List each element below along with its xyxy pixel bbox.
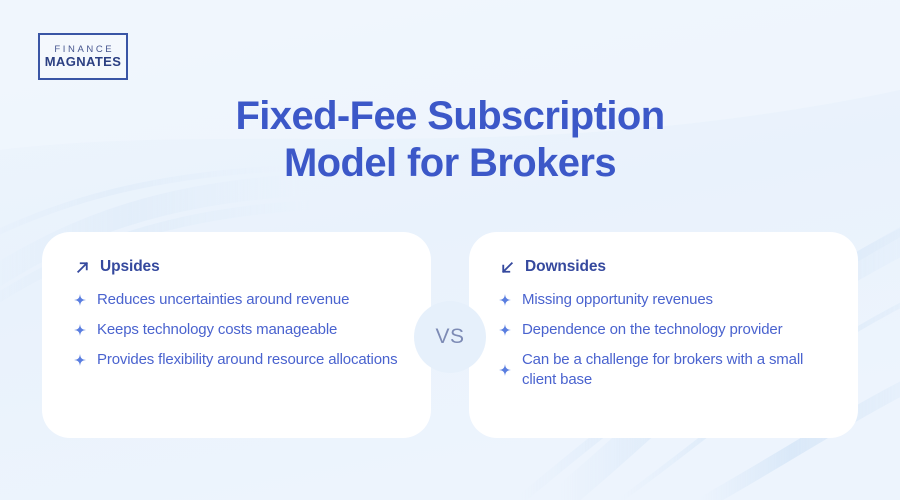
list-item: Keeps technology costs manageable xyxy=(74,320,403,339)
page-title: Fixed-Fee Subscription Model for Brokers xyxy=(0,93,900,187)
finance-magnates-logo: FINANCE MAGNATES xyxy=(38,33,128,80)
upsides-card: Upsides Reduces uncertainties around rev… xyxy=(42,232,431,438)
downsides-card: Downsides Missing opportunity revenues D… xyxy=(469,232,858,438)
downsides-card-heading: Downsides xyxy=(525,258,606,276)
downsides-list: Missing opportunity revenues Dependence … xyxy=(499,290,830,389)
arrow-down-left-icon xyxy=(499,259,516,276)
list-item: Can be a challenge for brokers with a sm… xyxy=(499,350,830,388)
list-item-text: Missing opportunity revenues xyxy=(522,290,713,309)
vs-badge-label: VS xyxy=(435,325,464,349)
sparkle-icon xyxy=(74,324,86,336)
list-item-text: Dependence on the technology provider xyxy=(522,320,782,339)
arrow-up-right-icon xyxy=(74,259,91,276)
sparkle-icon xyxy=(499,364,511,376)
infographic-canvas: FINANCE MAGNATES Fixed-Fee Subscription … xyxy=(0,0,900,500)
list-item-text: Provides flexibility around resource all… xyxy=(97,350,397,369)
list-item-text: Keeps technology costs manageable xyxy=(97,320,337,339)
list-item: Provides flexibility around resource all… xyxy=(74,350,403,369)
list-item-text: Reduces uncertainties around revenue xyxy=(97,290,349,309)
upsides-list: Reduces uncertainties around revenue Kee… xyxy=(74,290,403,370)
list-item: Reduces uncertainties around revenue xyxy=(74,290,403,309)
upsides-card-heading: Upsides xyxy=(100,258,160,276)
logo-text-finance: FINANCE xyxy=(52,45,115,55)
page-title-line2: Model for Brokers xyxy=(284,141,616,185)
page-title-line1: Fixed-Fee Subscription xyxy=(235,94,664,138)
upsides-card-header: Upsides xyxy=(74,258,403,276)
sparkle-icon xyxy=(499,294,511,306)
downsides-card-header: Downsides xyxy=(499,258,830,276)
sparkle-icon xyxy=(74,354,86,366)
vs-badge: VS xyxy=(414,301,486,373)
list-item: Missing opportunity revenues xyxy=(499,290,830,309)
sparkle-icon xyxy=(499,324,511,336)
list-item-text: Can be a challenge for brokers with a sm… xyxy=(522,350,830,388)
sparkle-icon xyxy=(74,294,86,306)
logo-text-magnates: MAGNATES xyxy=(45,55,122,68)
list-item: Dependence on the technology provider xyxy=(499,320,830,339)
